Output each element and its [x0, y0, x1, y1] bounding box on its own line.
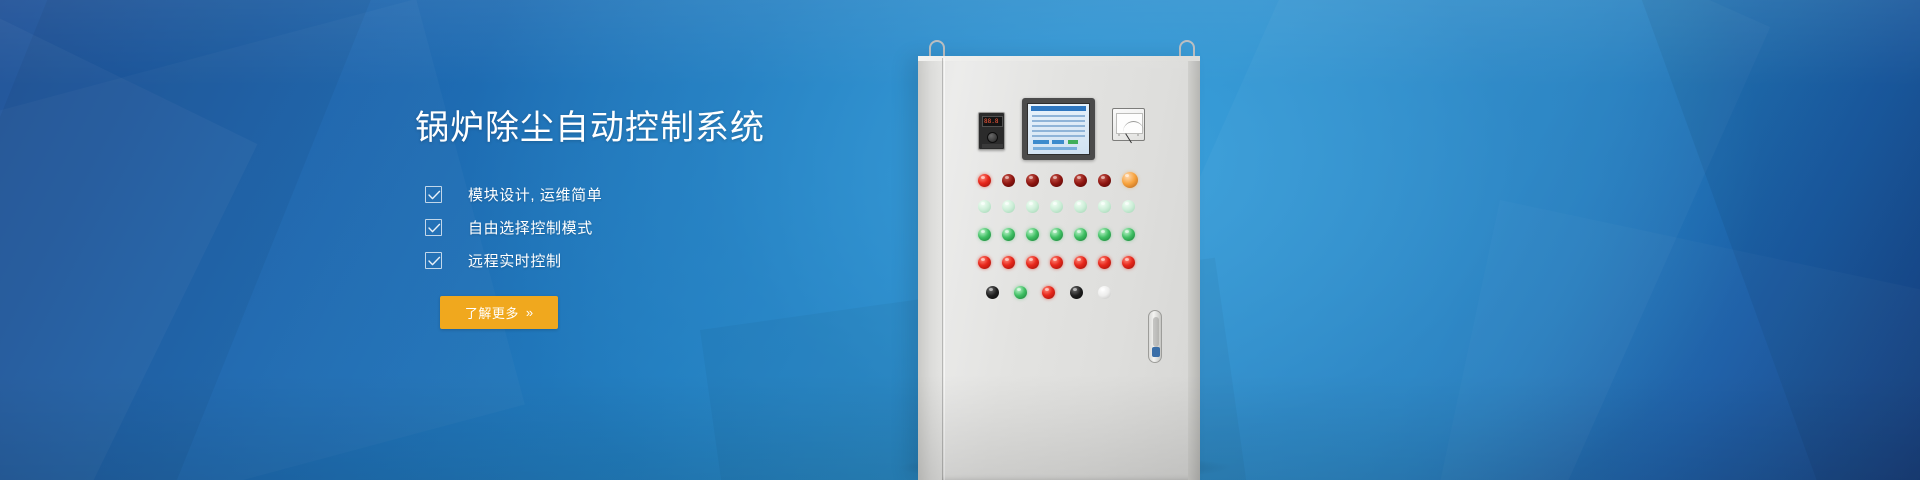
handle-slot: [1153, 317, 1159, 347]
background-facet: [0, 0, 398, 480]
hmi-row: [1032, 130, 1085, 132]
indicator-lamp: [978, 200, 991, 213]
indicator-lamp: [978, 228, 991, 241]
meter-screw-icon: [1137, 134, 1139, 136]
background-facet: [1413, 200, 1920, 480]
indicator-lamp: [1050, 256, 1063, 269]
product-image: 88.8: [900, 0, 1320, 480]
selector-switch: [986, 286, 999, 299]
indicator-lamp: [1050, 228, 1063, 241]
feature-label: 模块设计, 运维简单: [468, 184, 602, 205]
indicator-lamp: [1026, 200, 1039, 213]
digital-controller: 88.8: [978, 112, 1005, 150]
list-item: 模块设计, 运维简单: [425, 178, 602, 211]
hmi-titlebar: [1031, 106, 1086, 111]
indicator-lamp: [1098, 256, 1111, 269]
indicator-lamp: [1122, 228, 1135, 241]
cabinet-left-edge: [918, 56, 942, 480]
controller-label-strip: [982, 144, 1003, 148]
indicator-lamp: [1050, 200, 1063, 213]
indicator-lamp: [1098, 174, 1111, 187]
indicator-lamp: [1026, 228, 1039, 241]
feature-label: 自由选择控制模式: [468, 217, 593, 238]
controller-value: 88.8: [984, 118, 998, 125]
check-square-icon: [425, 252, 442, 269]
indicator-lamp: [1098, 228, 1111, 241]
indicator-lamp: [1098, 200, 1111, 213]
hmi-block: [1052, 140, 1064, 144]
cabinet-door-seam: [942, 58, 943, 480]
controller-knob-icon: [987, 132, 998, 143]
indicator-lamp: [1074, 228, 1087, 241]
background-facet: [0, 0, 257, 480]
hmi-screen: [1027, 103, 1090, 155]
hmi-row: [1032, 125, 1085, 127]
check-square-icon: [425, 186, 442, 203]
indicator-lamp: [1026, 174, 1039, 187]
page-title: 锅炉除尘自动控制系统: [415, 108, 765, 149]
list-item: 远程实时控制: [425, 244, 602, 277]
indicator-lamp: [1002, 228, 1015, 241]
check-square-icon: [425, 219, 442, 236]
banner-content: 锅炉除尘自动控制系统 模块设计, 运维简单 自由选择控制模式 远程实时控制: [415, 0, 975, 480]
hero-banner: 锅炉除尘自动控制系统 模块设计, 运维简单 自由选择控制模式 远程实时控制: [0, 0, 1920, 480]
indicator-lamp: [1002, 256, 1015, 269]
lock-icon: [1152, 347, 1160, 357]
indicator-lamp: [1122, 172, 1138, 188]
meter-screw-icon: [1118, 134, 1120, 136]
hmi-block: [1033, 147, 1077, 150]
meter-scale-arc: [1123, 121, 1144, 132]
learn-more-button[interactable]: 了解更多 »: [440, 296, 558, 329]
door-handle: [1148, 310, 1162, 363]
list-item: 自由选择控制模式: [425, 211, 602, 244]
hmi-block: [1033, 140, 1049, 144]
indicator-lamp: [978, 256, 991, 269]
indicator-lamp: [1122, 200, 1135, 213]
hmi-row: [1032, 135, 1085, 137]
cabinet-right-edge: [1188, 58, 1200, 480]
background-facet: [1620, 0, 1920, 480]
meter-face: [1116, 113, 1143, 134]
indicator-lamp: [1002, 200, 1015, 213]
selector-switch: [1014, 286, 1027, 299]
hmi-block: [1068, 140, 1078, 144]
analog-meter: [1112, 108, 1145, 141]
learn-more-label: 了解更多: [465, 303, 519, 322]
indicator-lamp: [1026, 256, 1039, 269]
chevron-right-icon: »: [526, 306, 533, 319]
indicator-lamp: [1002, 174, 1015, 187]
indicator-lamp: [978, 174, 991, 187]
feature-label: 远程实时控制: [468, 250, 562, 271]
selector-switch: [1042, 286, 1055, 299]
indicator-lamp: [1050, 174, 1063, 187]
cabinet-top-edge: [918, 56, 1200, 61]
selector-switch: [1098, 286, 1111, 299]
feature-list: 模块设计, 运维简单 自由选择控制模式 远程实时控制: [425, 178, 602, 277]
indicator-lamp: [1122, 256, 1135, 269]
indicator-lamp: [1074, 174, 1087, 187]
hmi-row: [1032, 120, 1085, 122]
indicator-lamp: [1074, 200, 1087, 213]
selector-switch: [1070, 286, 1083, 299]
hmi-row: [1032, 115, 1085, 117]
indicator-lamp: [1074, 256, 1087, 269]
cabinet-door-seam: [944, 58, 945, 480]
hmi-touch-panel: [1022, 98, 1095, 160]
